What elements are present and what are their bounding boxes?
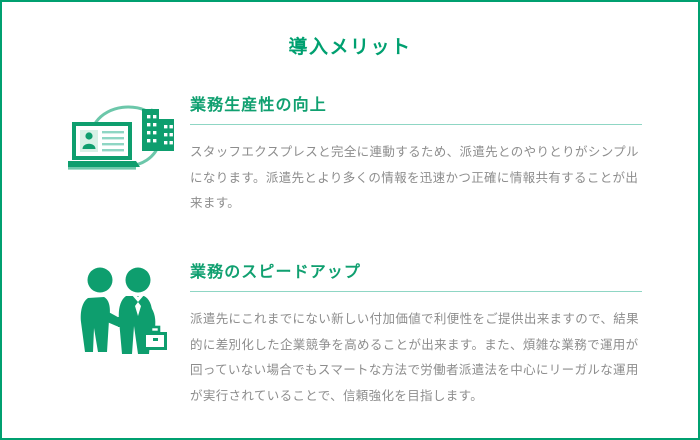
benefit-divider	[190, 291, 642, 292]
benefit-heading: 業務生産性の向上	[190, 91, 642, 124]
benefit-body: スタッフエクスプレスと完全に連動するため、派遣先とのやりとりがシンプルになります…	[190, 139, 642, 216]
page-title: 導入メリット	[2, 2, 698, 59]
benefits-page: 導入メリット	[0, 0, 700, 440]
benefit-text-productivity: 業務生産性の向上 スタッフエクスプレスと完全に連動するため、派遣先とのやりとりが…	[182, 91, 642, 216]
benefit-divider	[190, 124, 642, 125]
laptop-building-sync-icon-svg	[68, 95, 174, 171]
benefit-body: 派遣先にこれまでにない新しい付加価値で利便性をご提供出来ますので、結果的に差別化…	[190, 306, 642, 409]
benefit-item-speed: 業務のスピードアップ 派遣先にこれまでにない新しい付加価値で利便性をご提供出来ま…	[2, 258, 698, 409]
handshake-businessmen-icon	[60, 258, 182, 366]
laptop-building-sync-icon	[60, 91, 182, 171]
benefit-list: 業務生産性の向上 スタッフエクスプレスと完全に連動するため、派遣先とのやりとりが…	[2, 91, 698, 408]
benefit-text-speed: 業務のスピードアップ 派遣先にこれまでにない新しい付加価値で利便性をご提供出来ま…	[182, 258, 642, 409]
handshake-businessmen-icon-svg	[68, 260, 174, 366]
benefit-item-productivity: 業務生産性の向上 スタッフエクスプレスと完全に連動するため、派遣先とのやりとりが…	[2, 91, 698, 216]
benefit-heading: 業務のスピードアップ	[190, 258, 642, 291]
